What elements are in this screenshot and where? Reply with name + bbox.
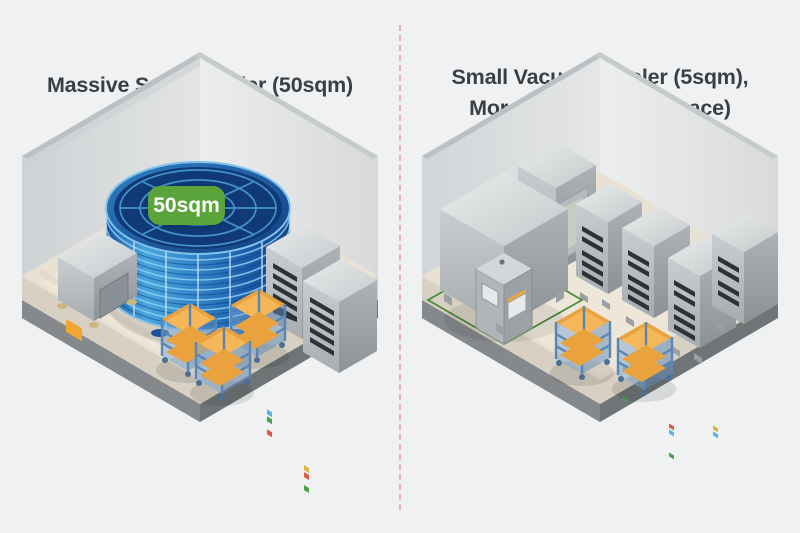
right-panel: Small Vacuum Cooler (5sqm), More Ovens (… (400, 0, 800, 533)
oven-rack (303, 259, 377, 493)
left-panel: Massive Spiral Cooler (50sqm) (0, 0, 400, 533)
right-scene-illustration (400, 0, 800, 533)
footprint-badge-50sqm: 50sqm (148, 186, 225, 225)
panel-divider (399, 25, 401, 510)
left-scene-illustration (0, 0, 400, 533)
comparison-diagram: Massive Spiral Cooler (50sqm) (0, 0, 800, 533)
